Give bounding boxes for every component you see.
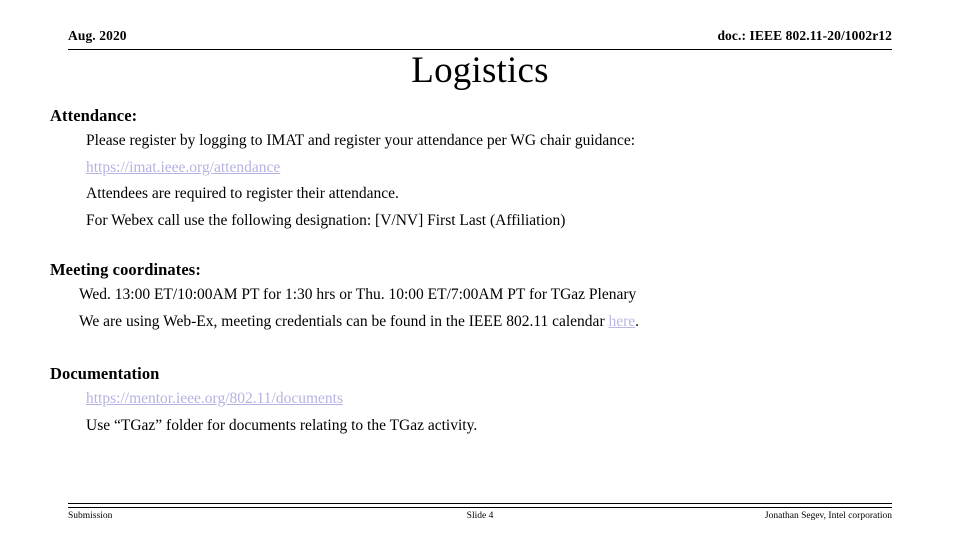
section-heading-meeting-coordinates: Meeting coordinates: [50,258,920,282]
documentation-line-folder: Use “TGaz” folder for documents relating… [50,413,920,440]
section-heading-attendance: Attendance: [50,104,920,128]
documentation-mentor-link-row: https://mentor.ieee.org/802.11/documents [50,386,920,413]
meeting-line-times: Wed. 13:00 ET/10:00AM PT for 1:30 hrs or… [50,282,920,309]
attendance-line-register: Please register by logging to IMAT and r… [50,128,920,155]
imat-attendance-link[interactable]: https://imat.ieee.org/attendance [86,159,280,176]
meeting-credentials-text-before: We are using Web-Ex, meeting credentials… [79,313,608,330]
page-title: Logistics [0,49,960,93]
header-row: Aug. 2020 doc.: IEEE 802.11-20/1002r12 [68,28,892,44]
meeting-line-credentials: We are using Web-Ex, meeting credentials… [50,309,920,336]
slide-footer: Submission Slide 4 Jonathan Segev, Intel… [68,510,892,523]
section-heading-documentation: Documentation [50,362,920,386]
attendance-line-required: Attendees are required to register their… [50,181,920,208]
attendance-imat-link-row: https://imat.ieee.org/attendance [50,155,920,182]
header-doc-reference: doc.: IEEE 802.11-20/1002r12 [717,28,892,44]
footer-submission-label: Submission [68,510,112,523]
slide-body: Attendance: Please register by logging t… [50,104,920,439]
mentor-documents-link[interactable]: https://mentor.ieee.org/802.11/documents [86,390,343,407]
meeting-credentials-text-after: . [635,313,639,330]
footer-divider-bottom [68,507,892,508]
slide: Aug. 2020 doc.: IEEE 802.11-20/1002r12 L… [0,0,960,540]
footer-author-affiliation: Jonathan Segev, Intel corporation [765,510,892,523]
slide-header: Aug. 2020 doc.: IEEE 802.11-20/1002r12 [68,28,892,50]
spacer-after-attendance [50,234,920,258]
footer-divider-top [68,503,892,504]
attendance-line-webex-designation: For Webex call use the following designa… [50,208,920,235]
spacer-after-meeting [50,335,920,362]
header-date: Aug. 2020 [68,28,127,44]
ieee-calendar-here-link[interactable]: here [608,313,635,330]
